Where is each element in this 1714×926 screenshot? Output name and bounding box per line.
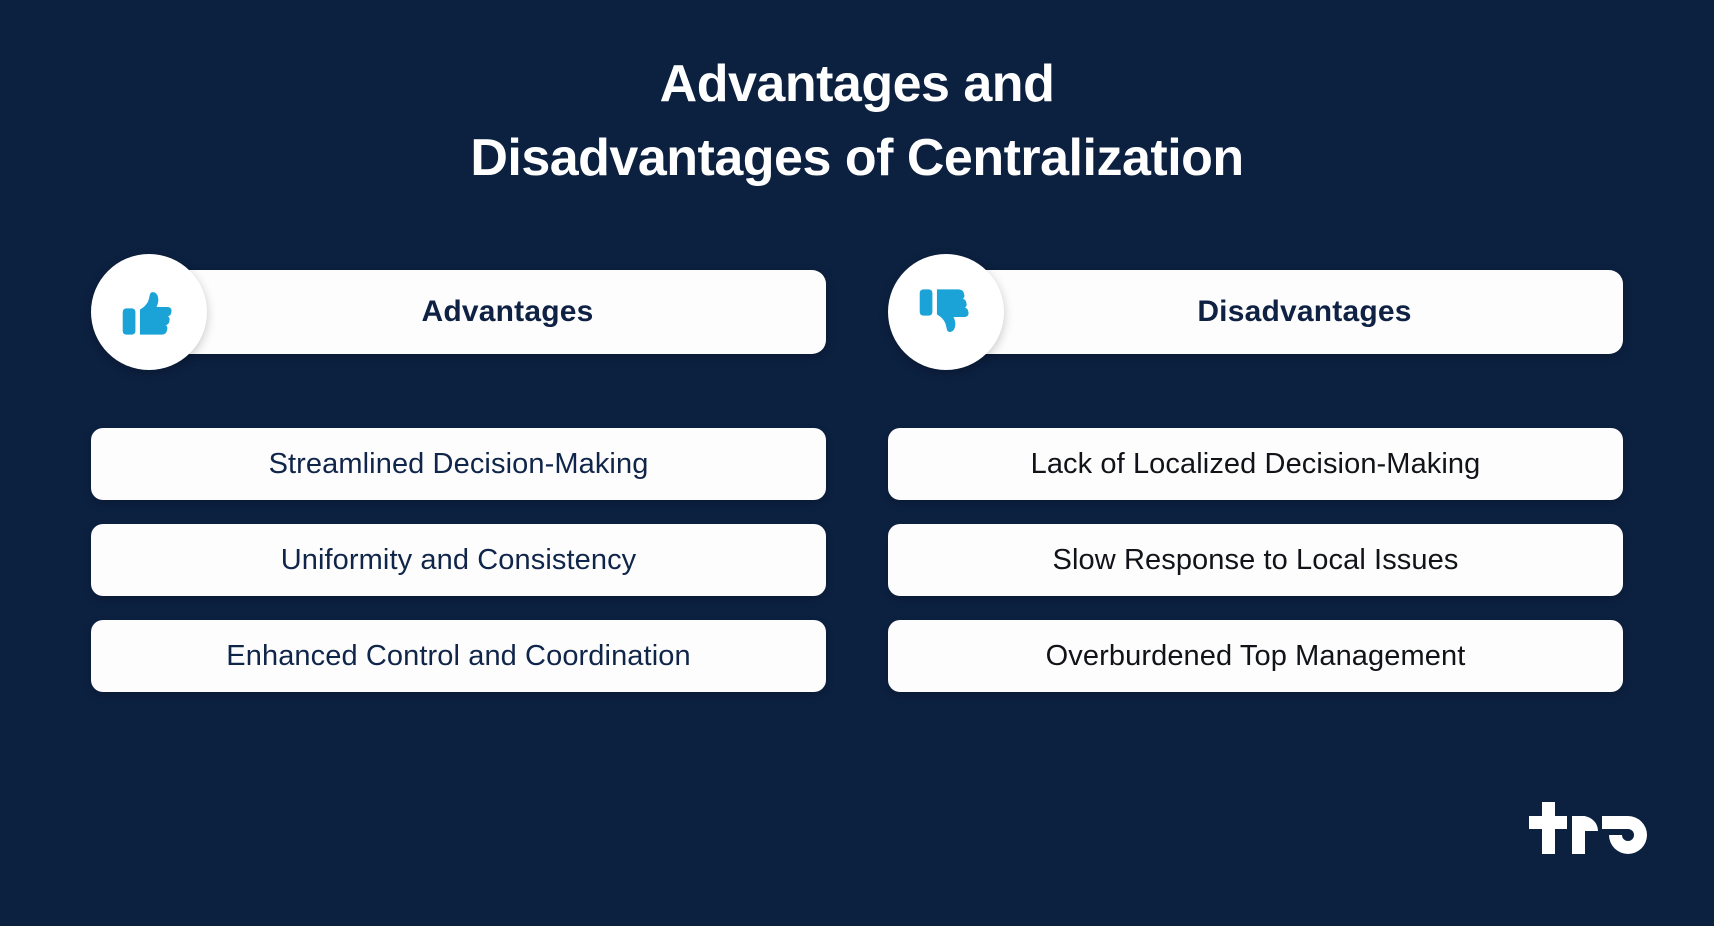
list-item-label: Streamlined Decision-Making bbox=[251, 448, 667, 481]
disadvantages-header: Disadvantages bbox=[888, 262, 1623, 362]
tro-logo bbox=[1516, 798, 1656, 868]
title-line-1: Advantages and bbox=[0, 48, 1714, 122]
list-item-label: Overburdened Top Management bbox=[1028, 640, 1484, 673]
advantages-header-label: Advantages bbox=[381, 295, 593, 329]
list-item-label: Slow Response to Local Issues bbox=[1035, 544, 1477, 577]
advantages-icon-circle bbox=[91, 254, 207, 370]
thumbs-down-icon bbox=[917, 283, 975, 341]
infographic-canvas: Advantages and Disadvantages of Centrali… bbox=[0, 0, 1714, 926]
list-item[interactable]: Uniformity and Consistency bbox=[91, 524, 826, 596]
column-disadvantages: Disadvantages Lack of Localized Decision… bbox=[888, 262, 1623, 692]
advantages-header-bar: Advantages bbox=[149, 270, 826, 354]
list-item[interactable]: Enhanced Control and Coordination bbox=[91, 620, 826, 692]
list-item-label: Enhanced Control and Coordination bbox=[208, 640, 708, 673]
list-item[interactable]: Lack of Localized Decision-Making bbox=[888, 428, 1623, 500]
disadvantages-header-label: Disadvantages bbox=[1157, 295, 1411, 329]
list-item[interactable]: Overburdened Top Management bbox=[888, 620, 1623, 692]
list-item-label: Lack of Localized Decision-Making bbox=[1013, 448, 1499, 481]
list-item-label: Uniformity and Consistency bbox=[263, 544, 655, 577]
comparison-columns: Advantages Streamlined Decision-Making U… bbox=[0, 262, 1714, 692]
advantages-header: Advantages bbox=[91, 262, 826, 362]
title-line-2: Disadvantages of Centralization bbox=[0, 122, 1714, 196]
page-title: Advantages and Disadvantages of Centrali… bbox=[0, 48, 1714, 196]
disadvantages-icon-circle bbox=[888, 254, 1004, 370]
list-item[interactable]: Streamlined Decision-Making bbox=[91, 428, 826, 500]
disadvantages-header-bar: Disadvantages bbox=[946, 270, 1623, 354]
list-item[interactable]: Slow Response to Local Issues bbox=[888, 524, 1623, 596]
thumbs-up-icon bbox=[120, 283, 178, 341]
column-advantages: Advantages Streamlined Decision-Making U… bbox=[91, 262, 826, 692]
